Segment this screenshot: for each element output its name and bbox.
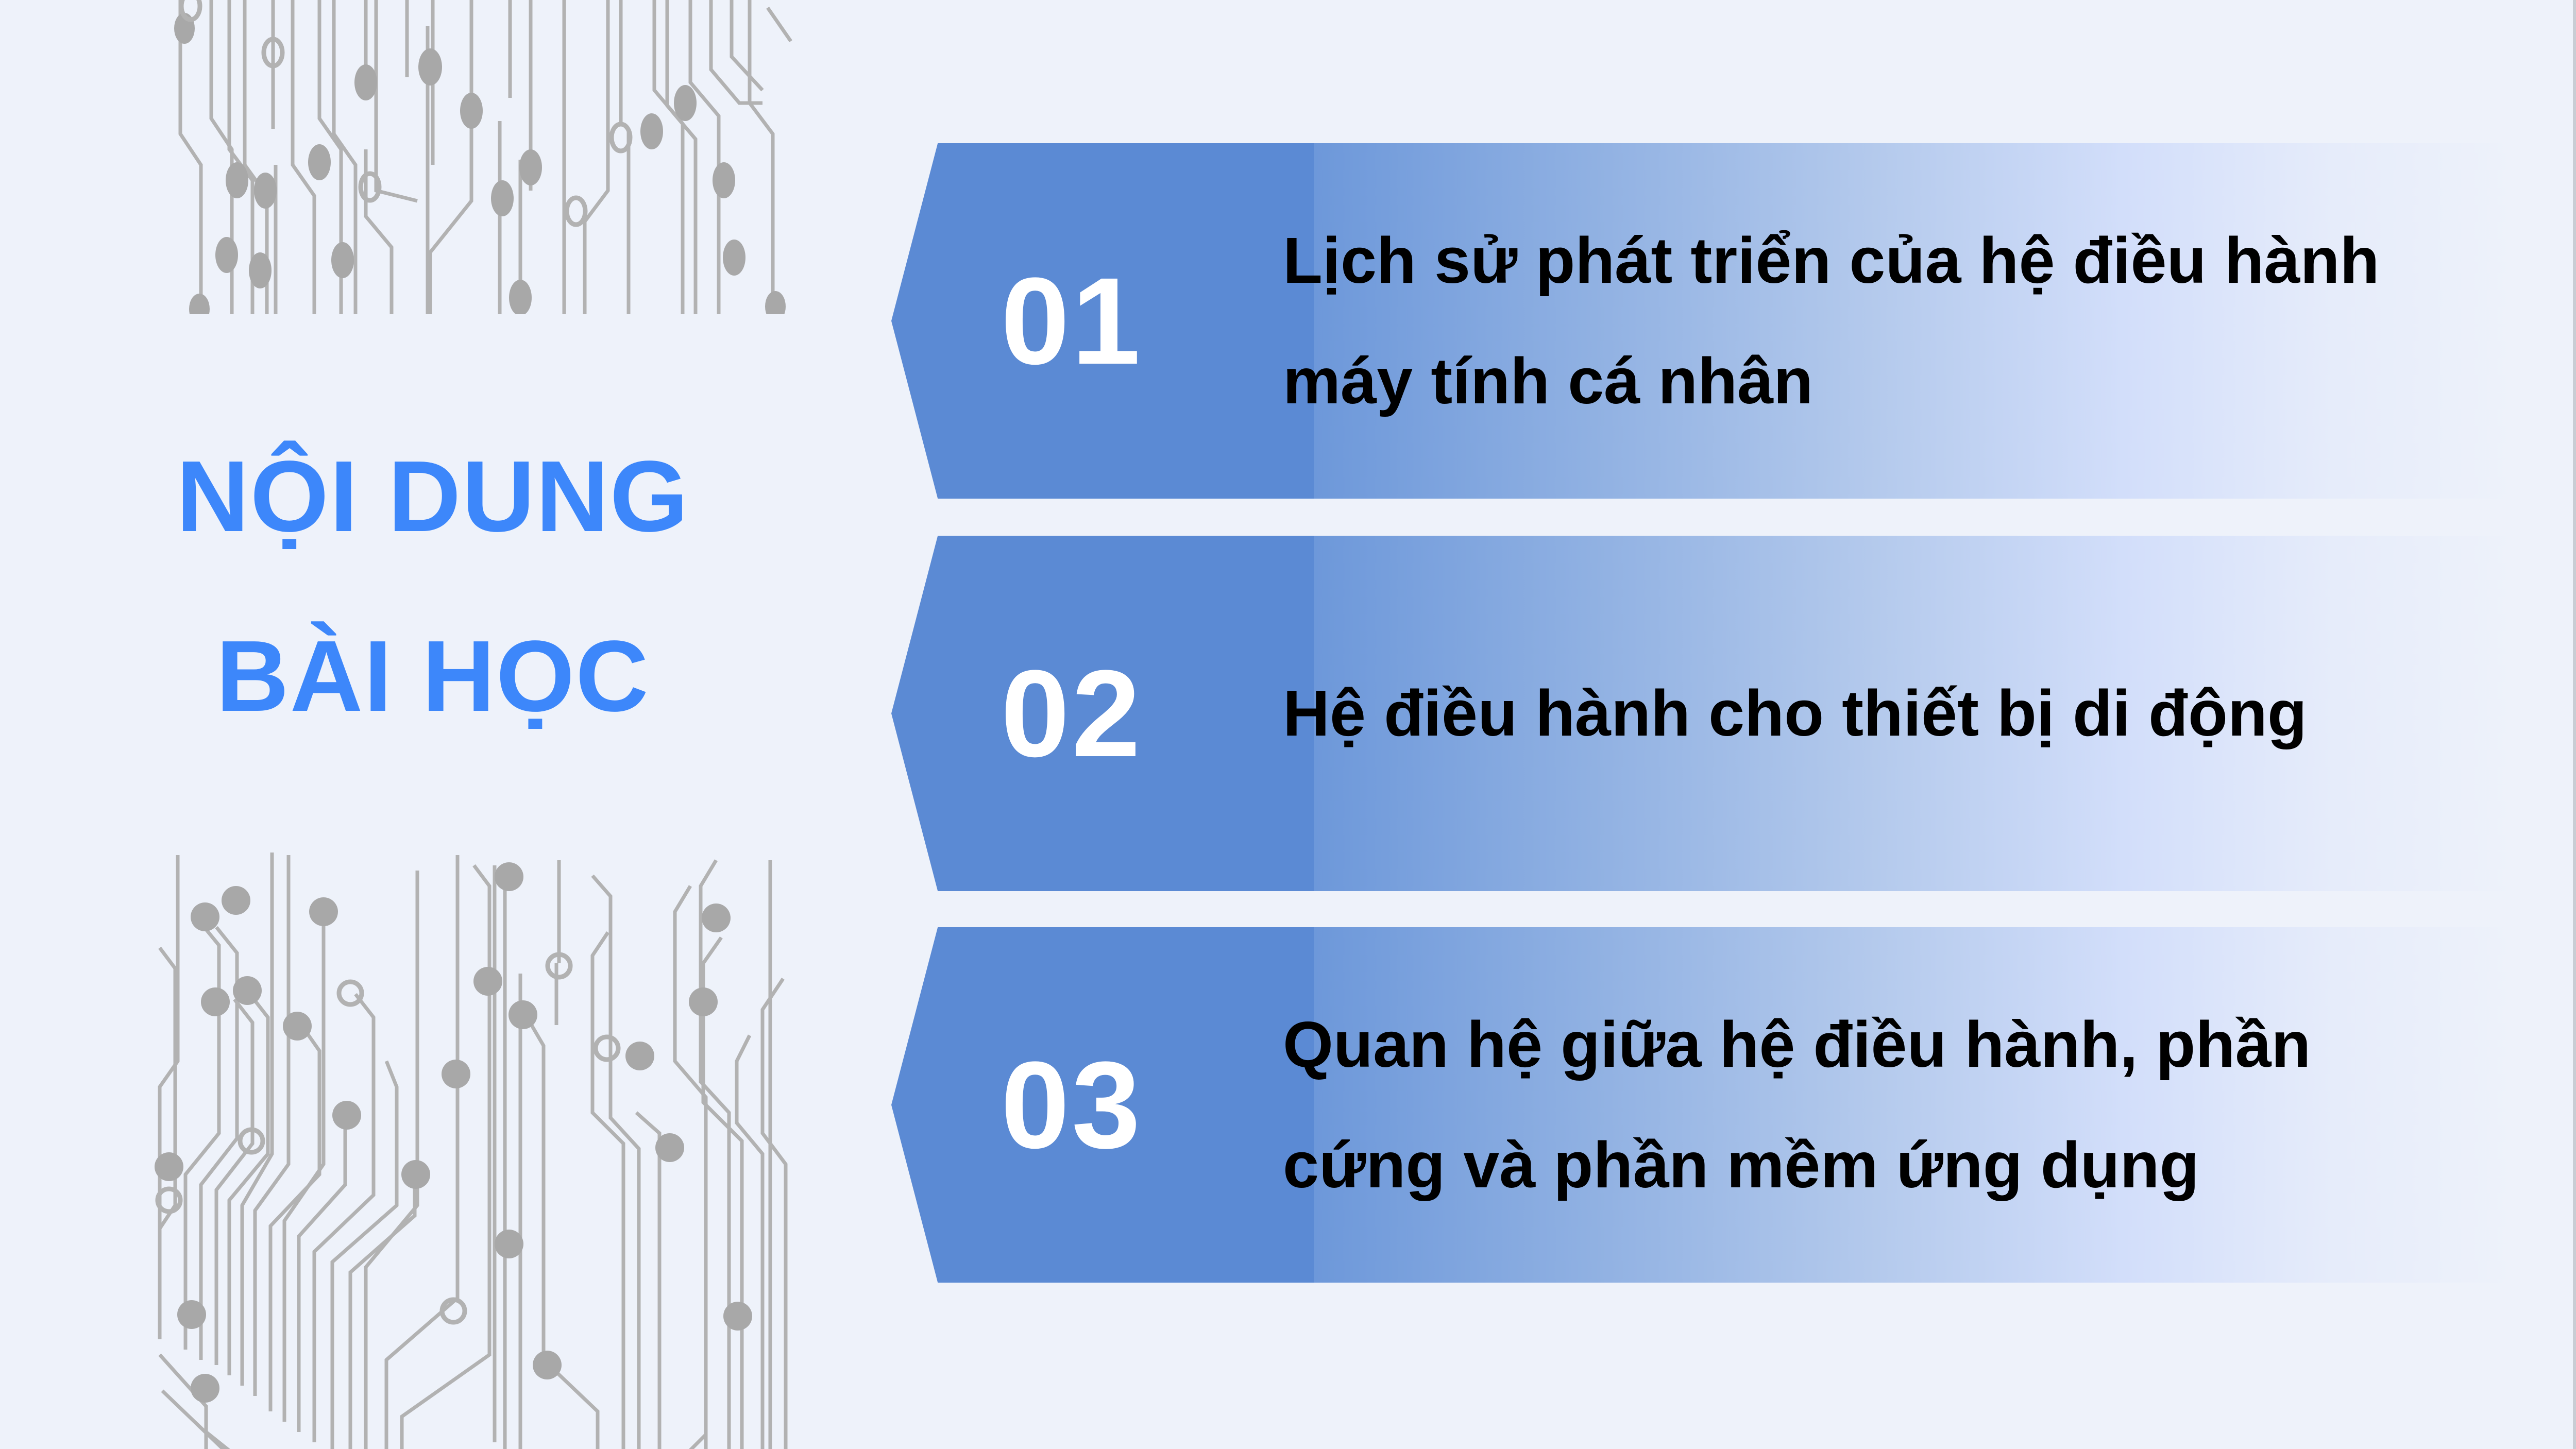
content-item-02-number: 02 [891,536,1252,891]
content-item-01-number: 01 [891,143,1252,499]
content-item-01-text: Lịch sử phát triển của hệ điều hành máy … [1283,143,2514,499]
page-title-line-2: BÀI HỌC [93,587,773,766]
circuit-board-top-decoration [149,0,793,314]
content-item-01-number-hexagon: 01 [891,143,1314,499]
circuit-board-bottom-decoration [144,845,799,1449]
content-item-02-number-hexagon: 02 [891,536,1314,891]
content-item-03-number-hexagon: 03 [891,927,1314,1283]
content-item-02-text: Hệ điều hành cho thiết bị di động [1283,536,2514,891]
page-title: NỘI DUNG BÀI HỌC [93,407,773,766]
content-item-03-text-line-2: cứng và phần mềm ứng dụng [1283,1105,2514,1225]
content-item-02[interactable]: 02 Hệ điều hành cho thiết bị di động [891,536,2576,891]
content-item-03-text: Quan hệ giữa hệ điều hành, phần cứng và … [1283,927,2514,1283]
content-item-01-text-line-1: Lịch sử phát triển của hệ điều hành [1283,200,2514,321]
page-title-line-1: NỘI DUNG [93,407,773,587]
content-item-01[interactable]: 01 Lịch sử phát triển của hệ điều hành m… [891,143,2576,499]
content-item-03-number: 03 [891,927,1252,1283]
content-item-03[interactable]: 03 Quan hệ giữa hệ điều hành, phần cứng … [891,927,2576,1283]
slide-canvas: NỘI DUNG BÀI HỌC 01 Lịch sử phát triển c… [0,0,2576,1449]
content-item-01-text-line-2: máy tính cá nhân [1283,321,2514,441]
content-item-02-text-line-1: Hệ điều hành cho thiết bị di động [1283,653,2514,774]
content-item-03-text-line-1: Quan hệ giữa hệ điều hành, phần [1283,984,2514,1105]
